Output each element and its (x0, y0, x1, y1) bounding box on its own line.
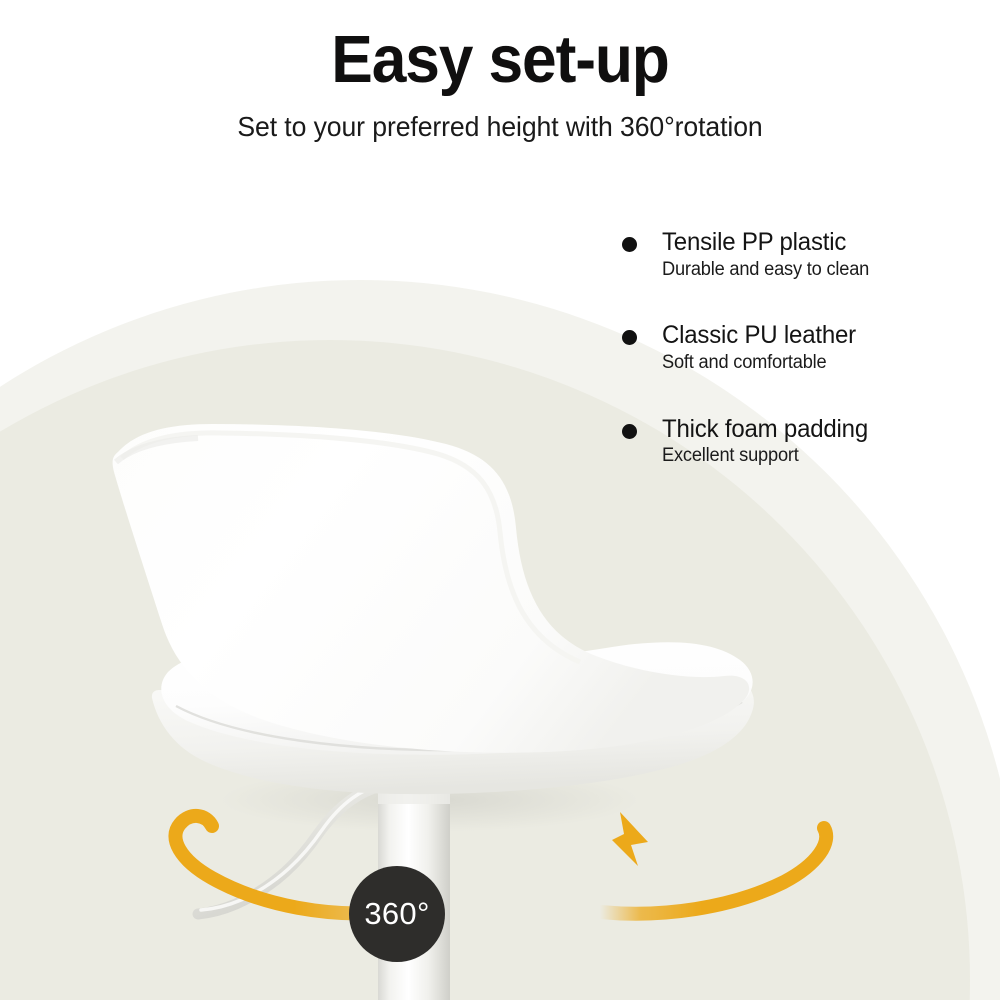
product-feature-image: Easy set-up Set to your preferred height… (0, 0, 1000, 1000)
feature-item: Classic PU leather Soft and comfortable (618, 321, 988, 374)
header: Easy set-up Set to your preferred height… (0, 0, 1000, 143)
feature-subtitle: Soft and comfortable (662, 351, 975, 375)
bullet-dot-icon (622, 237, 637, 252)
feature-subtitle: Excellent support (662, 444, 975, 468)
page-subtitle: Set to your preferred height with 360°ro… (25, 93, 975, 143)
feature-item: Tensile PP plastic Durable and easy to c… (618, 228, 988, 281)
rotation-badge-label: 360° (364, 898, 429, 929)
feature-list: Tensile PP plastic Durable and easy to c… (618, 228, 988, 468)
product-image (0, 0, 1000, 1000)
bullet-dot-icon (622, 424, 637, 439)
feature-item: Thick foam padding Excellent support (618, 415, 988, 468)
page-title: Easy set-up (35, 0, 965, 93)
feature-title: Tensile PP plastic (662, 228, 975, 257)
feature-subtitle: Durable and easy to clean (662, 258, 975, 282)
bullet-dot-icon (622, 330, 637, 345)
rotation-badge: 360° (349, 866, 445, 962)
feature-title: Thick foam padding (662, 415, 975, 444)
feature-title: Classic PU leather (662, 321, 975, 350)
